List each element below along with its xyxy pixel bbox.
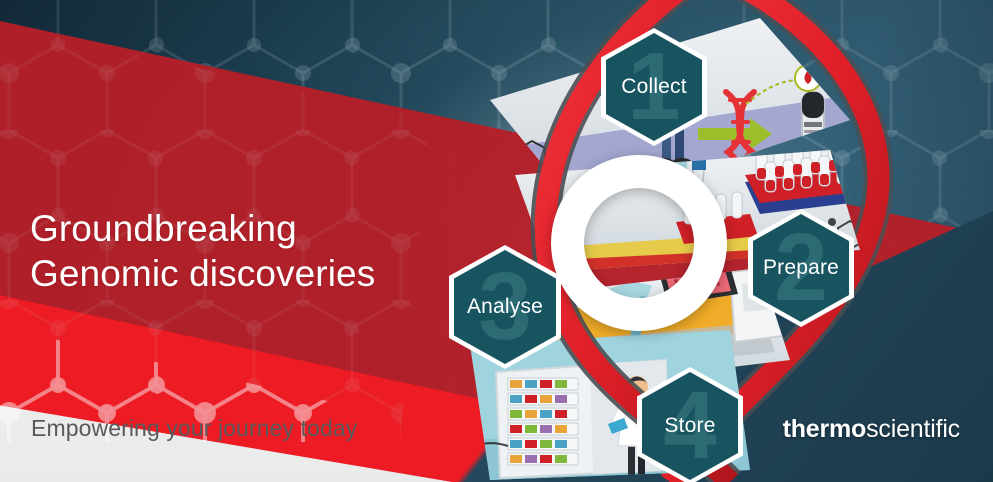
thermo-scientific-logo: thermoscientific [783, 415, 960, 444]
logo-word-thermo: thermo [783, 415, 867, 443]
step-badge-store[interactable]: 4 Store [637, 367, 743, 482]
logo-word-scientific: scientific [866, 415, 960, 443]
tagline: Empowering your journey today [31, 415, 357, 442]
headline-line-2: Genomic discoveries [30, 251, 460, 296]
white-ring-graphic [551, 155, 727, 331]
tube-rack-large [745, 140, 875, 214]
headline-line-1: Groundbreaking [30, 206, 460, 251]
step-badge-collect[interactable]: 1 Collect [601, 28, 707, 146]
headline: Groundbreaking Genomic discoveries [30, 206, 460, 296]
step-badge-analyse[interactable]: 3 Analyse [449, 245, 561, 369]
marketing-banner: 1 Collect 2 Prepare 3 Analyse 4 Store Gr… [0, 0, 993, 482]
step-label: Analyse [449, 295, 561, 319]
step-badge-prepare[interactable]: 2 Prepare [748, 209, 854, 327]
step-label: Prepare [748, 256, 854, 280]
step-label: Store [637, 414, 743, 438]
step-label: Collect [601, 75, 707, 99]
